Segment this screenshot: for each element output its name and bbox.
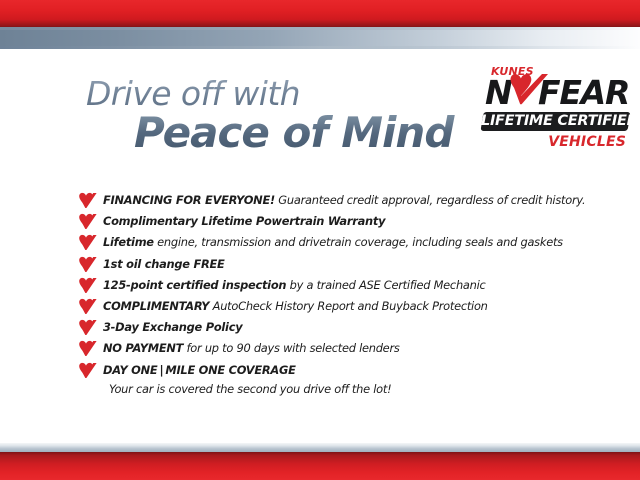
list-item-bold-2: MILE ONE COVERAGE xyxy=(165,363,295,377)
list-item: Complimentary Lifetime Powertrain Warran… xyxy=(78,211,578,232)
list-item: 125-point certified inspection by a trai… xyxy=(78,275,578,296)
list-item-bold: Lifetime xyxy=(103,235,154,249)
list-item-bold: 3-Day Exchange Policy xyxy=(103,320,242,334)
list-item: 1st oil change FREE xyxy=(78,254,578,275)
list-item-bold: NO PAYMENT xyxy=(103,341,183,355)
headline-line-2: Peace of Mind xyxy=(134,110,466,156)
list-item: Lifetime engine, transmission and drivet… xyxy=(78,232,578,253)
benefits-list: FINANCING FOR EVERYONE! Guaranteed credi… xyxy=(78,190,578,398)
list-item: COMPLIMENTARY AutoCheck History Report a… xyxy=(78,296,578,317)
check-heart-icon xyxy=(78,234,97,251)
logo-no-fear-wordmark: N FEAR xyxy=(485,76,630,109)
list-item-text: Complimentary Lifetime Powertrain Warran… xyxy=(103,211,578,232)
check-heart-icon xyxy=(78,256,97,273)
check-heart-icon xyxy=(78,277,97,294)
check-heart-icon xyxy=(78,213,97,230)
list-item: FINANCING FOR EVERYONE! Guaranteed credi… xyxy=(78,190,578,211)
list-item-rest: for up to 90 days with selected lenders xyxy=(183,341,399,355)
top-slate-band xyxy=(0,27,640,49)
list-item-bold: 1st oil change FREE xyxy=(103,257,225,271)
bottom-red-band xyxy=(0,452,640,480)
check-heart-icon xyxy=(78,340,97,357)
list-item-bold: FINANCING FOR EVERYONE! xyxy=(103,193,275,207)
list-item-rest: Guaranteed credit approval, regardless o… xyxy=(275,193,585,207)
list-item: NO PAYMENT for up to 90 days with select… xyxy=(78,338,578,359)
list-item-bold: 125-point certified inspection xyxy=(103,278,286,292)
list-item-text: COMPLIMENTARY AutoCheck History Report a… xyxy=(103,296,578,317)
list-item-bold: COMPLIMENTARY xyxy=(103,299,209,313)
list-item: DAY ONE|MILE ONE COVERAGE Your car is co… xyxy=(78,360,578,398)
list-item-text: Lifetime engine, transmission and drivet… xyxy=(103,232,578,253)
list-item-text: FINANCING FOR EVERYONE! Guaranteed credi… xyxy=(103,190,578,211)
list-item: 3-Day Exchange Policy xyxy=(78,317,578,338)
list-item-rest: by a trained ASE Certified Mechanic xyxy=(286,278,485,292)
list-item-text: 125-point certified inspection by a trai… xyxy=(103,275,578,296)
logo-certified-text: LIFETIME CERTIFIED xyxy=(481,112,630,131)
check-heart-icon xyxy=(78,362,97,379)
list-item-rest: AutoCheck History Report and Buyback Pro… xyxy=(209,299,487,313)
list-item-text: NO PAYMENT for up to 90 days with select… xyxy=(103,338,578,359)
list-item-subtext: Your car is covered the second you drive… xyxy=(103,381,578,398)
check-heart-icon xyxy=(78,319,97,336)
headline-block: Drive off with Peace of Mind xyxy=(86,76,466,156)
list-item-text: 3-Day Exchange Policy xyxy=(103,317,578,338)
list-item-bold: Complimentary Lifetime Powertrain Warran… xyxy=(103,214,385,228)
list-item-text: 1st oil change FREE xyxy=(103,254,578,275)
check-heart-icon xyxy=(508,73,550,113)
top-red-band xyxy=(0,0,640,27)
check-heart-icon xyxy=(78,298,97,315)
bottom-slate-band xyxy=(0,443,640,452)
list-item-rest: engine, transmission and drivetrain cove… xyxy=(154,235,563,249)
list-item-text: DAY ONE|MILE ONE COVERAGE xyxy=(103,360,578,381)
kunes-no-fear-logo: KUNES N FEAR LIFETIME CERTIFIED VEHICLES xyxy=(481,64,630,160)
check-heart-icon xyxy=(78,192,97,209)
headline-line-1: Drive off with xyxy=(86,76,466,112)
logo-vehicles-text: VEHICLES xyxy=(548,134,626,150)
list-item-bold: DAY ONE xyxy=(103,363,157,377)
logo-word-fear: FEAR xyxy=(538,76,629,109)
